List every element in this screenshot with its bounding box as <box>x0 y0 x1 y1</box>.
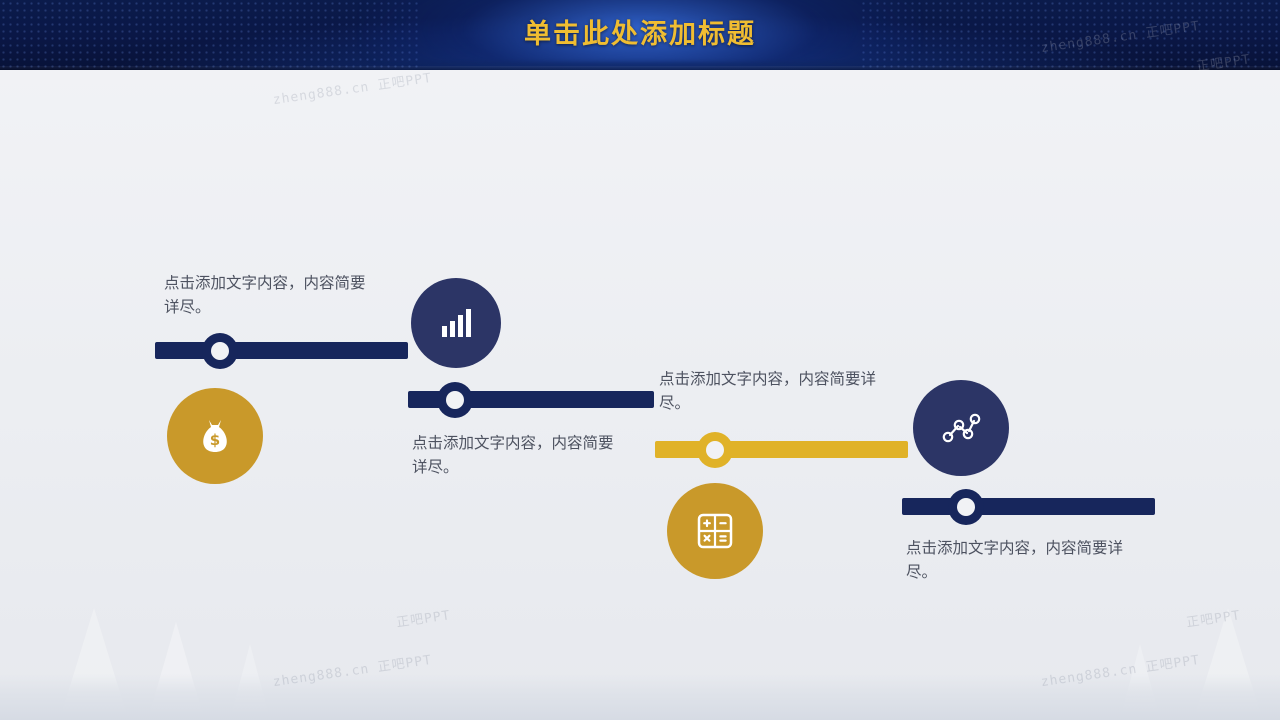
svg-text:$: $ <box>210 431 220 449</box>
connector-bar-4 <box>902 498 1155 515</box>
slide-header: 单击此处添加标题 <box>0 0 1280 70</box>
connector-bar-1 <box>155 342 408 359</box>
icon-circle-calculator[interactable] <box>667 483 763 579</box>
money-bag-icon: $ <box>191 412 239 460</box>
caption-3: 点击添加文字内容，内容简要详尽。 <box>659 368 877 416</box>
caption-1: 点击添加文字内容，内容简要详尽。 <box>164 272 380 320</box>
watermark: 正吧PPT <box>1185 604 1242 630</box>
connector-knob-4 <box>948 489 984 525</box>
icon-circle-network-chart[interactable] <box>913 380 1009 476</box>
icon-circle-bar-chart[interactable] <box>411 278 501 368</box>
slide: 单击此处添加标题 zheng888.cn 正吧PPT zheng888.cn 正… <box>0 0 1280 720</box>
caption-4: 点击添加文字内容，内容简要详尽。 <box>906 537 1124 585</box>
watermark: zheng888.cn 正吧PPT <box>1039 649 1200 690</box>
connector-knob-2 <box>437 382 473 418</box>
connector-knob-3 <box>697 432 733 468</box>
connector-bar-3 <box>655 441 908 458</box>
watermark: zheng888.cn 正吧PPT <box>271 649 432 690</box>
sea-gradient <box>0 674 1280 720</box>
sailboat-icon <box>1196 608 1260 712</box>
network-chart-icon <box>937 404 985 452</box>
sailboat-icon <box>62 608 126 712</box>
caption-2: 点击添加文字内容，内容简要详尽。 <box>412 432 628 480</box>
sailboat-icon <box>150 622 202 712</box>
sailboat-icon <box>1122 644 1158 712</box>
connector-knob-1 <box>202 333 238 369</box>
sailboat-icon <box>232 644 268 712</box>
watermark: 正吧PPT <box>395 604 452 630</box>
bar-chart-icon <box>435 302 477 344</box>
bottom-scenery <box>0 580 1280 720</box>
page-title: 单击此处添加标题 <box>0 0 1280 70</box>
watermark: zheng888.cn 正吧PPT <box>271 67 432 108</box>
icon-circle-money-bag[interactable]: $ <box>167 388 263 484</box>
calculator-icon <box>691 507 739 555</box>
